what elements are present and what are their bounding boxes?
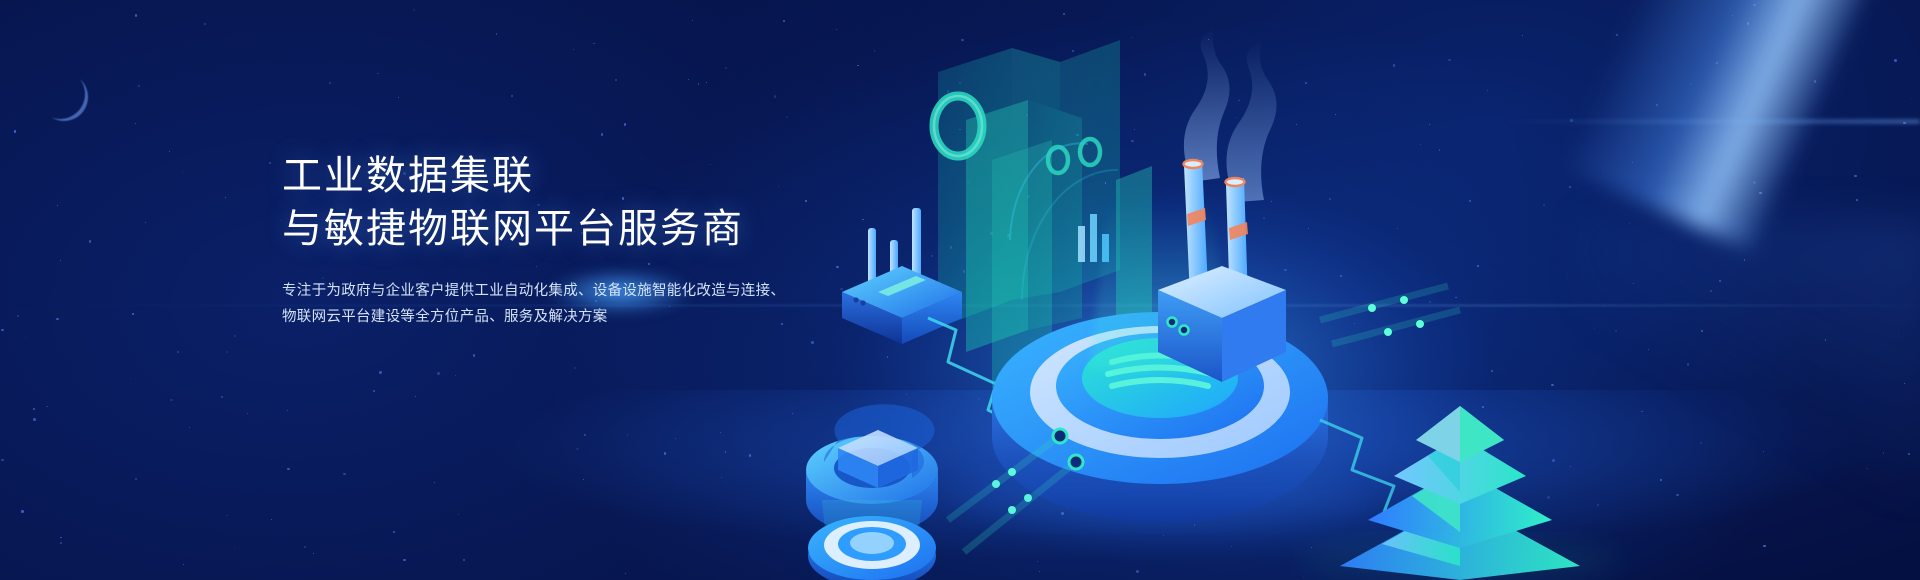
star-dot bbox=[234, 335, 236, 337]
star-dot bbox=[269, 162, 271, 164]
star-dot bbox=[304, 546, 306, 548]
star-dot bbox=[379, 371, 382, 374]
star-dot bbox=[415, 396, 416, 397]
star-dot bbox=[692, 20, 693, 21]
star-dot bbox=[377, 73, 378, 74]
star-dot bbox=[721, 477, 722, 478]
star-dot bbox=[177, 351, 180, 354]
crescent-moon-icon bbox=[40, 73, 88, 121]
star-dot bbox=[393, 531, 396, 534]
star-dot bbox=[403, 559, 406, 562]
star-dot bbox=[57, 205, 58, 206]
star-dot bbox=[33, 408, 35, 410]
star-dot bbox=[1, 329, 3, 331]
star-dot bbox=[1, 459, 4, 462]
star-dot bbox=[182, 171, 183, 172]
star-dot bbox=[720, 432, 721, 433]
star-dot bbox=[21, 510, 24, 513]
hero-copy: 工业数据集联 与敏捷物联网平台服务商 专注于为政府与企业客户提供工业自动化集成、… bbox=[282, 150, 842, 331]
page-title-line1: 工业数据集联 bbox=[282, 150, 842, 203]
star-dot bbox=[706, 82, 707, 83]
star-dot bbox=[313, 553, 314, 554]
star-dot bbox=[135, 123, 136, 124]
star-dot bbox=[221, 396, 223, 398]
star-dot bbox=[511, 95, 513, 97]
star-dot bbox=[725, 67, 727, 69]
star-dot bbox=[373, 390, 375, 392]
star-dot bbox=[234, 548, 235, 549]
star-dot bbox=[627, 434, 629, 436]
star-dot bbox=[573, 49, 574, 50]
star-dot bbox=[138, 85, 140, 87]
star-dot bbox=[624, 123, 627, 126]
router-led bbox=[853, 297, 858, 302]
star-dot bbox=[688, 79, 689, 80]
star-dot bbox=[615, 79, 617, 81]
star-dot bbox=[398, 97, 400, 99]
star-dot bbox=[169, 151, 170, 152]
star-dot bbox=[664, 452, 666, 454]
star-dot bbox=[413, 9, 415, 11]
star-dot bbox=[17, 315, 19, 317]
star-dot bbox=[458, 514, 459, 515]
star-dot bbox=[60, 260, 61, 261]
star-dot bbox=[271, 519, 272, 520]
star-dot bbox=[584, 434, 586, 436]
star-dot bbox=[601, 133, 604, 136]
star-dot bbox=[226, 351, 228, 353]
star-dot bbox=[434, 482, 435, 483]
star-dot bbox=[583, 479, 584, 480]
star-dot bbox=[625, 573, 626, 574]
star-dot bbox=[170, 399, 172, 401]
hero-illustration bbox=[760, 0, 1920, 580]
star-dot bbox=[226, 515, 227, 516]
star-dot bbox=[593, 43, 595, 45]
router-led bbox=[860, 300, 865, 305]
star-dot bbox=[60, 542, 63, 545]
star-dot bbox=[576, 448, 579, 451]
hero-subtitle-line2: 物联网云平台建设等全方位产品、服务及解决方案 bbox=[282, 304, 842, 331]
hero-subtitle-line1: 专注于为政府与企业客户提供工业自动化集成、设备设施智能化改造与连接、 bbox=[282, 278, 842, 305]
small-disc-pedestal bbox=[808, 516, 936, 580]
factory-port bbox=[1180, 326, 1189, 335]
star-dot bbox=[135, 478, 137, 480]
star-dot bbox=[455, 375, 457, 377]
star-dot bbox=[473, 354, 476, 357]
star-dot bbox=[749, 454, 751, 456]
star-dot bbox=[204, 23, 206, 25]
star-dot bbox=[46, 406, 48, 408]
star-dot bbox=[463, 559, 465, 561]
star-dot bbox=[132, 313, 134, 315]
factory-port bbox=[1168, 318, 1177, 327]
star-dot bbox=[698, 83, 699, 84]
star-dot bbox=[89, 240, 92, 243]
star-dot bbox=[130, 378, 131, 379]
star-dot bbox=[135, 14, 138, 17]
star-dot bbox=[329, 82, 332, 85]
star-dot bbox=[145, 222, 146, 223]
page-title-line2: 与敏捷物联网平台服务商 bbox=[282, 203, 842, 256]
star-dot bbox=[437, 372, 440, 375]
star-dot bbox=[14, 130, 16, 132]
star-dot bbox=[343, 473, 346, 476]
star-dot bbox=[56, 318, 59, 321]
hero-banner: 工业数据集联 与敏捷物联网平台服务商 专注于为政府与企业客户提供工业自动化集成、… bbox=[0, 0, 1920, 580]
star-dot bbox=[280, 220, 281, 221]
star-dot bbox=[287, 468, 290, 471]
star-dot bbox=[675, 438, 676, 439]
star-dot bbox=[247, 413, 248, 414]
star-dot bbox=[287, 410, 288, 411]
star-dot bbox=[496, 33, 497, 34]
star-dot bbox=[574, 367, 576, 369]
star-dot bbox=[33, 418, 36, 421]
star-dot bbox=[25, 337, 26, 338]
star-dot bbox=[189, 427, 190, 428]
star-dot bbox=[225, 197, 226, 198]
star-dot bbox=[60, 537, 61, 538]
star-dot bbox=[725, 451, 727, 453]
star-dot bbox=[183, 564, 184, 565]
